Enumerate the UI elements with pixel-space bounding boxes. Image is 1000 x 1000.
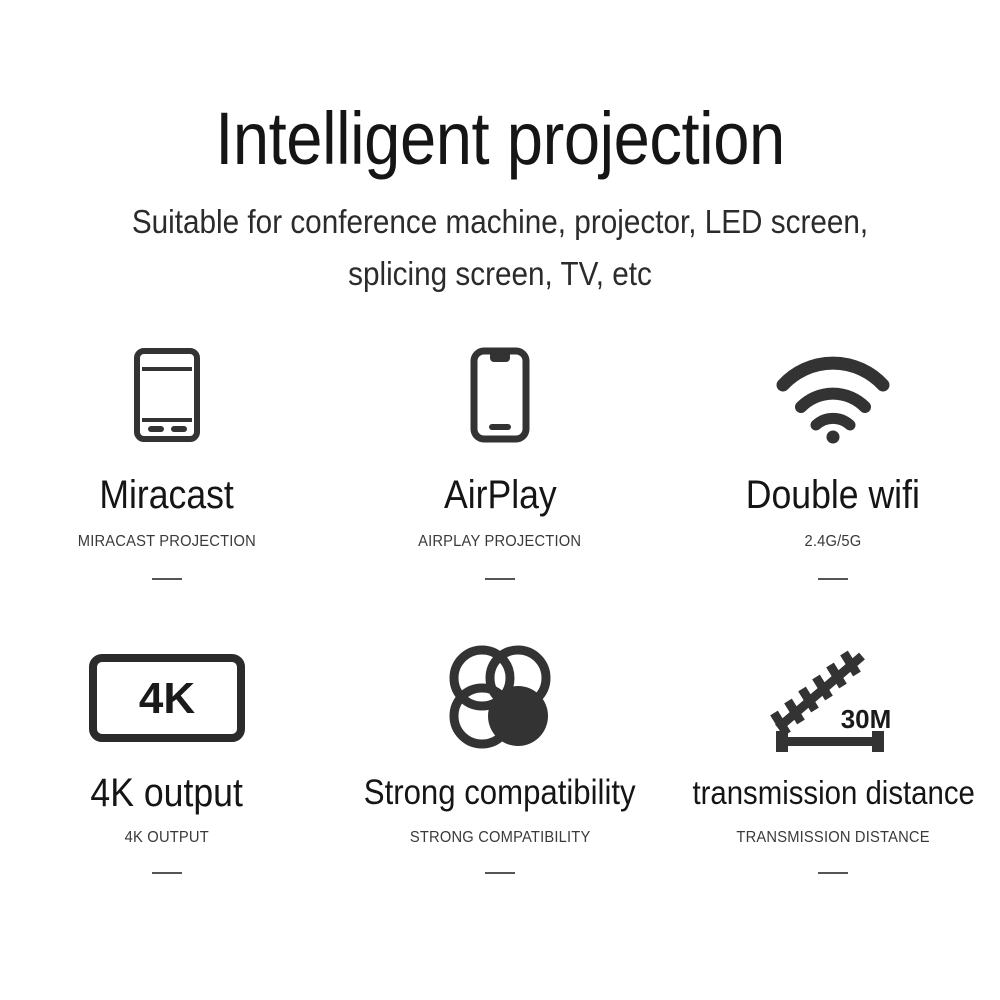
feature-divider bbox=[485, 578, 515, 580]
android-phone-icon bbox=[129, 340, 205, 450]
feature-subtitle: 4K OUTPUT bbox=[125, 828, 209, 848]
feature-divider bbox=[818, 872, 848, 874]
wifi-icon bbox=[773, 340, 893, 450]
feature-title: 4K output bbox=[90, 770, 242, 816]
feature-subtitle: MIRACAST PROJECTION bbox=[78, 532, 256, 552]
iphone-icon bbox=[462, 340, 538, 450]
feature-title: Miracast bbox=[99, 472, 234, 518]
feature-subtitle: STRONG COMPATIBILITY bbox=[410, 828, 591, 848]
feature-card-airplay: AirPlay AIRPLAY PROJECTION bbox=[333, 340, 666, 640]
feature-card-miracast: Miracast MIRACAST PROJECTION bbox=[0, 340, 333, 640]
ruler-distance-icon: 30M bbox=[766, 640, 900, 756]
four-k-label: 4K bbox=[139, 674, 195, 723]
feature-subtitle: TRANSMISSION DISTANCE bbox=[737, 828, 930, 848]
feature-divider bbox=[818, 578, 848, 580]
feature-grid: Miracast MIRACAST PROJECTION AirPlay AIR… bbox=[0, 340, 1000, 940]
feature-title: transmission distance bbox=[692, 770, 974, 816]
subtitle-line-1: Suitable for conference machine, project… bbox=[50, 196, 950, 248]
feature-row-2: 4K 4K output 4K OUTPUT Strong com bbox=[0, 640, 1000, 940]
feature-subtitle: 2.4G/5G bbox=[805, 532, 862, 552]
feature-divider bbox=[152, 872, 182, 874]
page-title: Intelligent projection bbox=[60, 96, 940, 182]
feature-title: Double wifi bbox=[746, 472, 920, 518]
four-k-screen-icon: 4K bbox=[87, 640, 247, 756]
feature-title: Strong compatibility bbox=[364, 770, 636, 816]
feature-divider bbox=[485, 872, 515, 874]
feature-title: AirPlay bbox=[444, 472, 557, 518]
feature-card-transmission-distance: 30M transmission distance TRANSMISSION D… bbox=[667, 640, 1000, 940]
page-header: Intelligent projection Suitable for conf… bbox=[0, 96, 1000, 300]
feature-card-double-wifi: Double wifi 2.4G/5G bbox=[667, 340, 1000, 640]
feature-divider bbox=[152, 578, 182, 580]
promo-page: Intelligent projection Suitable for conf… bbox=[0, 0, 1000, 1000]
overlapping-circles-icon bbox=[442, 640, 558, 756]
feature-card-strong-compatibility: Strong compatibility STRONG COMPATIBILIT… bbox=[333, 640, 666, 940]
feature-subtitle: AIRPLAY PROJECTION bbox=[418, 532, 581, 552]
distance-label: 30M bbox=[841, 704, 892, 734]
subtitle-line-2: splicing screen, TV, etc bbox=[50, 248, 950, 300]
feature-card-4k-output: 4K 4K output 4K OUTPUT bbox=[0, 640, 333, 940]
page-subtitle: Suitable for conference machine, project… bbox=[50, 196, 950, 300]
feature-row-1: Miracast MIRACAST PROJECTION AirPlay AIR… bbox=[0, 340, 1000, 640]
